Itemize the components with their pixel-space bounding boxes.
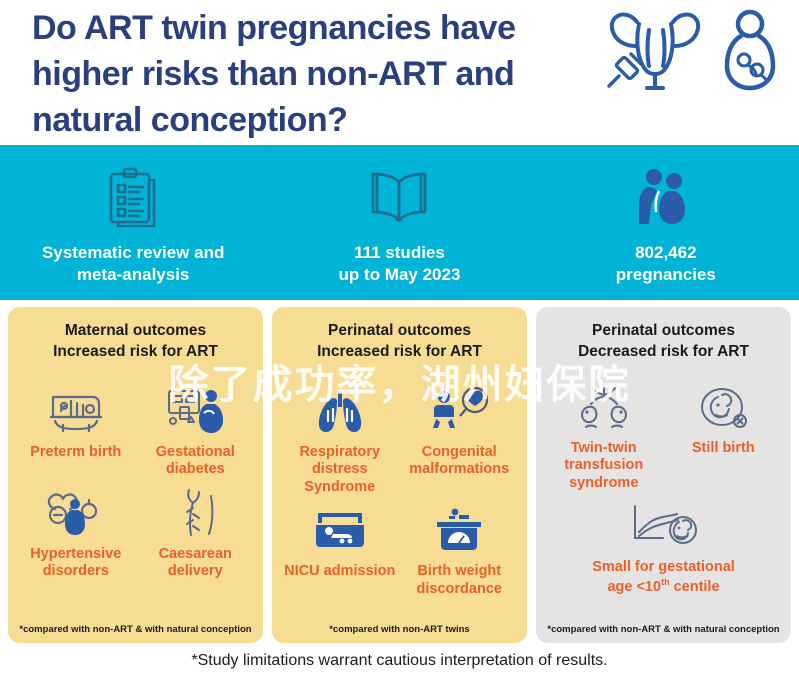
card-items-grid: Respiratory distress Syndrome [280,365,519,624]
stat-label: 111 studies up to May 2023 [339,242,461,285]
baby-weighing-scale-icon [433,504,485,556]
stat-pregnancies: 802,462 pregnancies [533,160,799,285]
stats-band: Systematic review and meta-analysis 111 … [0,145,799,300]
card-footnote: *compared with non-ART twins [280,624,519,637]
card-perinatal-decreased: Perinatal outcomes Decreased risk for AR… [536,307,791,643]
blood-pressure-pregnant-woman-icon [45,487,107,539]
item-label: Small for gestational age <10th centile [592,559,735,596]
card-footnote: *compared with non-ART & with natural co… [544,624,783,637]
footer: *Study limitations warrant cautious inte… [0,643,799,679]
item-small-for-gestational-age: Small for gestational age <10th centile [544,498,783,602]
stat-systematic-review: Systematic review and meta-analysis [0,160,266,285]
card-footnote: *compared with non-ART & with natural co… [16,624,255,637]
card-heading: Maternal outcomes Increased risk for ART [16,321,255,365]
item-hypertensive-disorders: Hypertensive disorders [16,485,136,587]
item-label: Caesarean delivery [159,546,232,581]
item-label: Congenital malformations [409,444,509,479]
stat-label: Systematic review and meta-analysis [42,242,224,285]
incubator-icon [47,385,105,437]
item-label: Preterm birth [30,444,121,461]
stat-studies: 111 studies up to May 2023 [266,160,532,285]
item-label: Twin-twin transfusion syndrome [564,440,643,492]
twin-fetuses-placenta-icon [572,381,636,433]
pregnant-woman-twins-icon [719,8,781,99]
clipboard-checklist-icon [105,166,161,228]
item-caesarean-delivery: Caesarean delivery [136,485,256,587]
card-items-grid: Twin-twin transfusion syndrome [544,365,783,624]
two-pregnant-women-icon [635,166,697,228]
card-items-grid: Preterm birth [16,365,255,624]
item-label-post: centile [670,578,720,594]
stillbirth-fetus-cross-icon [696,381,750,433]
uterus-ivf-syringe-icon [601,8,709,99]
header: Do ART twin pregnancies have higher risk… [0,0,799,145]
lungs-icon [313,385,367,437]
item-gestational-diabetes: Gestational diabetes [136,383,256,485]
item-label: Respiratory distress Syndrome [282,444,398,496]
item-label: Hypertensive disorders [30,546,121,581]
item-label-superscript: th [661,577,669,587]
card-perinatal-increased: Perinatal outcomes Increased risk for AR… [272,307,527,643]
growth-chart-fetus-icon [621,500,707,552]
outcome-cards: Maternal outcomes Increased risk for ART [0,300,799,643]
item-birth-weight-discordance: Birth weight discordance [400,502,520,604]
nicu-incubator-baby-icon [312,504,368,556]
item-label: Gestational diabetes [156,444,235,479]
stat-label: 802,462 pregnancies [616,242,716,285]
glucose-monitor-pregnant-woman-icon [166,385,224,437]
caesarean-scar-icon [171,487,219,539]
open-book-icon [367,166,431,228]
item-label: Birth weight discordance [417,563,502,598]
item-label: NICU admission [284,563,395,580]
item-label: Still birth [692,440,755,457]
item-twin-twin-transfusion-syndrome: Twin-twin transfusion syndrome [544,379,664,498]
page-title: Do ART twin pregnancies have higher risk… [32,6,612,144]
baby-magnifier-heart-icon [428,385,490,437]
item-congenital-malformations: Congenital malformations [400,383,520,502]
card-heading: Perinatal outcomes Decreased risk for AR… [544,321,783,365]
item-nicu-admission: NICU admission [280,502,400,604]
item-respiratory-distress-syndrome: Respiratory distress Syndrome [280,383,400,502]
item-still-birth: Still birth [664,379,784,498]
infographic-page: Do ART twin pregnancies have higher risk… [0,0,799,684]
card-maternal-outcomes: Maternal outcomes Increased risk for ART [8,307,263,643]
item-preterm-birth: Preterm birth [16,383,136,485]
footer-disclaimer: *Study limitations warrant cautious inte… [191,652,607,670]
header-icon-group [601,8,781,99]
card-heading: Perinatal outcomes Increased risk for AR… [280,321,519,365]
